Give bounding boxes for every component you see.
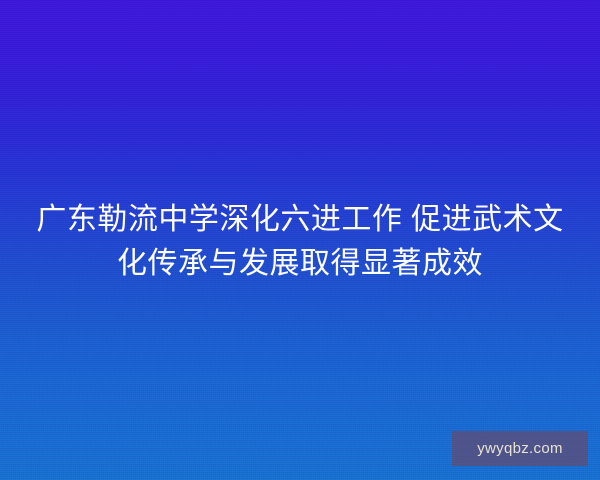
headline-line-1: 广东勒流中学深化六进工作 促进武术文 (18, 198, 582, 242)
watermark-text: ywyqbz.com (477, 440, 563, 457)
headline-line-2: 化传承与发展取得显著成效 (18, 242, 582, 286)
headline-title: 广东勒流中学深化六进工作 促进武术文 化传承与发展取得显著成效 (0, 198, 600, 286)
watermark-badge: ywyqbz.com (452, 431, 588, 466)
poster-canvas: 广东勒流中学深化六进工作 促进武术文 化传承与发展取得显著成效 ywyqbz.c… (0, 0, 600, 480)
